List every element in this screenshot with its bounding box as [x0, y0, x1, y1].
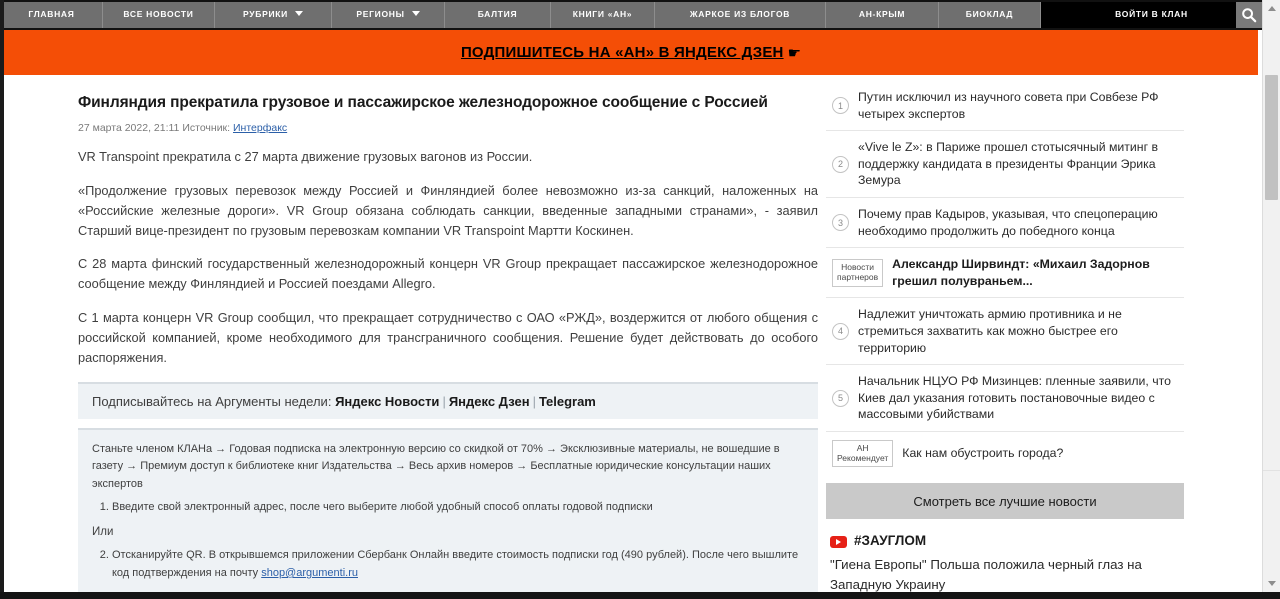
- article-paragraph: С 1 марта концерн VR Group сообщил, что …: [78, 308, 818, 367]
- nav-item-baltiya[interactable]: БАЛТИЯ: [445, 2, 551, 28]
- list-item[interactable]: 3 Почему прав Кадыров, указывая, что спе…: [826, 198, 1184, 248]
- recommend-badge-line1: АН: [857, 443, 869, 453]
- separator: |: [439, 394, 448, 409]
- article-paragraph: «Продолжение грузовых перевозок между Ро…: [78, 181, 818, 240]
- nav-item-rubriki[interactable]: РУБРИКИ: [215, 2, 332, 28]
- rank-badge: 3: [832, 214, 849, 231]
- article-paragraph: VR Transpoint прекратила с 27 марта движ…: [78, 147, 818, 167]
- nav-item-regiony[interactable]: РЕГИОНЫ: [332, 2, 445, 28]
- rank-badge: 4: [832, 323, 849, 340]
- rank-badge: 2: [832, 156, 849, 173]
- subscribe-prefix: Подписывайтесь на Аргументы недели:: [92, 394, 331, 409]
- source-link[interactable]: Интерфакс: [233, 122, 287, 134]
- list-item-partner[interactable]: Новости партнеров Александр Ширвиндт: «М…: [826, 248, 1184, 298]
- list-item[interactable]: 4 Надлежит уничтожать армию противника и…: [826, 298, 1184, 365]
- subscribe-link-yandex-zen[interactable]: Яндекс Дзен: [449, 394, 530, 409]
- subscribe-link-yandex-news[interactable]: Яндекс Новости: [335, 394, 439, 409]
- sidebar: 1 Путин исключил из научного совета при …: [826, 75, 1184, 592]
- clan-or-label: Или: [92, 523, 804, 541]
- page-root: ГЛАВНАЯ ВСЕ НОВОСТИ РУБРИКИ РЕГИОНЫ БАЛТ…: [0, 0, 1280, 599]
- sidebar-item-label: Путин исключил из научного совета при Со…: [858, 89, 1180, 122]
- clan-intro: Станьте членом КЛАНа → Годовая подписка …: [92, 441, 804, 494]
- nav-item-label: ЖАРКОЕ ИЗ БЛОГОВ: [690, 9, 790, 19]
- list-item[interactable]: 2 «Vive le Z»: в Париже прошел стотысячн…: [826, 131, 1184, 198]
- scrollbar-thumb[interactable]: [1265, 75, 1278, 200]
- nav-item-label: ГЛАВНАЯ: [28, 9, 74, 19]
- sidebar-item-label: Александр Ширвиндт: «Михаил Задорнов гре…: [892, 256, 1180, 289]
- chevron-down-icon: [412, 11, 420, 16]
- nav-item-knigi-an[interactable]: КНИГИ «АН»: [551, 2, 655, 28]
- nav-item-label: БИОКЛАД: [966, 9, 1013, 19]
- rank-badge: 1: [832, 97, 849, 114]
- article-meta: 27 марта 2022, 21:11 Источник: Интерфакс: [78, 122, 818, 134]
- list-item: Введите свой электронный адрес, после че…: [112, 499, 804, 517]
- nav-items-container: ГЛАВНАЯ ВСЕ НОВОСТИ РУБРИКИ РЕГИОНЫ БАЛТ…: [0, 2, 1262, 28]
- zen-subscribe-banner[interactable]: ПОДПИШИТЕСЬ НА «АН» В ЯНДЕКС ДЗЕН ☛: [4, 30, 1258, 75]
- article-column: Финляндия прекратила грузовое и пассажир…: [78, 93, 818, 592]
- youtube-hashtag: #ЗАУГЛОМ: [854, 533, 926, 548]
- clan-steps-list: Введите свой электронный адрес, после че…: [92, 499, 804, 517]
- search-icon: [1241, 7, 1257, 23]
- scrollbar-up-button[interactable]: [1263, 0, 1280, 17]
- nav-item-vse-novosti[interactable]: ВСЕ НОВОСТИ: [103, 2, 215, 28]
- chevron-down-icon: [1268, 581, 1276, 586]
- subscribe-strip: Подписывайтесь на Аргументы недели: Янде…: [78, 382, 818, 419]
- nav-item-label: БАЛТИЯ: [478, 9, 518, 19]
- article-date: 27 марта 2022, 21:11: [78, 122, 179, 134]
- sidebar-item-label: «Vive le Z»: в Париже прошел стотысячный…: [858, 139, 1180, 189]
- see-all-best-news-button[interactable]: Смотреть все лучшие новости: [826, 483, 1184, 519]
- nav-item-zharkoe-iz-blogov[interactable]: ЖАРКОЕ ИЗ БЛОГОВ: [655, 2, 826, 28]
- window-bottom-edge: [0, 592, 1280, 599]
- list-item: Отсканируйте QR. В открывшемся приложени…: [112, 547, 804, 582]
- rank-badge: 5: [832, 390, 849, 407]
- clan-step2-text: Отсканируйте QR. В открывшемся приложени…: [112, 549, 798, 579]
- pointing-hand-icon: ☛: [788, 44, 801, 62]
- divider: [1263, 470, 1280, 471]
- list-item-recommended[interactable]: АН Рекомендует Как нам обустроить города…: [826, 432, 1184, 476]
- nav-item-label: АН-КРЫМ: [859, 9, 905, 19]
- vertical-scrollbar[interactable]: [1262, 0, 1280, 599]
- youtube-promo-row: #ЗАУГЛОМ "Гиена Европы" Польша положила …: [830, 533, 1180, 592]
- clan-steps-list-2: Отсканируйте QR. В открывшемся приложени…: [92, 547, 804, 582]
- chevron-down-icon: [295, 11, 303, 16]
- youtube-promo-title: "Гиена Европы" Польша положила черный гл…: [830, 555, 1180, 592]
- partner-badge-line1: Новости: [841, 262, 874, 272]
- sidebar-item-label: Как нам обустроить города?: [902, 445, 1063, 462]
- nav-item-an-krym[interactable]: АН-КРЫМ: [826, 2, 939, 28]
- youtube-icon: [830, 536, 847, 548]
- sidebar-item-label: Почему прав Кадыров, указывая, что спецо…: [858, 206, 1180, 239]
- top-navigation-bar: ГЛАВНАЯ ВСЕ НОВОСТИ РУБРИКИ РЕГИОНЫ БАЛТ…: [0, 0, 1280, 30]
- article-paragraph: С 28 марта финский государственный желез…: [78, 254, 818, 294]
- sidebar-item-label: Начальник НЦУО РФ Мизинцев: пленные заяв…: [858, 373, 1180, 423]
- list-item[interactable]: 1 Путин исключил из научного совета при …: [826, 81, 1184, 131]
- recommend-badge: АН Рекомендует: [832, 440, 893, 468]
- nav-item-bioklad[interactable]: БИОКЛАД: [939, 2, 1041, 28]
- page-title: Финляндия прекратила грузовое и пассажир…: [78, 93, 818, 113]
- partner-badge-line2: партнеров: [837, 272, 878, 282]
- source-label: Источник:: [182, 122, 230, 134]
- search-button[interactable]: [1236, 2, 1262, 28]
- see-all-button-label: Смотреть все лучшие новости: [913, 494, 1096, 509]
- separator: |: [530, 394, 539, 409]
- clan-promo-box: Станьте членом КЛАНа → Годовая подписка …: [78, 428, 818, 592]
- sidebar-item-label: Надлежит уничтожать армию противника и н…: [858, 306, 1180, 356]
- nav-item-label: ВСЕ НОВОСТИ: [123, 9, 193, 19]
- chevron-up-icon: [1268, 6, 1276, 11]
- nav-item-label: КНИГИ «АН»: [573, 9, 632, 19]
- page-body: Финляндия прекратила грузовое и пассажир…: [4, 75, 1262, 592]
- nav-item-label: РЕГИОНЫ: [356, 9, 404, 19]
- youtube-promo-block[interactable]: #ЗАУГЛОМ "Гиена Европы" Польша положила …: [826, 519, 1184, 592]
- recommend-badge-line2: Рекомендует: [837, 453, 888, 463]
- scrollbar-down-button[interactable]: [1263, 575, 1280, 592]
- nav-item-glavnaya[interactable]: ГЛАВНАЯ: [0, 2, 103, 28]
- list-item[interactable]: 5 Начальник НЦУО РФ Мизинцев: пленные за…: [826, 365, 1184, 432]
- nav-item-join-clan[interactable]: ВОЙТИ В КЛАН: [1041, 2, 1262, 28]
- window-left-edge: [0, 0, 4, 599]
- partner-badge: Новости партнеров: [832, 259, 883, 287]
- nav-item-label: РУБРИКИ: [243, 9, 288, 19]
- subscribe-link-telegram[interactable]: Telegram: [539, 394, 596, 409]
- nav-item-label: ВОЙТИ В КЛАН: [1115, 9, 1188, 19]
- banner-text: ПОДПИШИТЕСЬ НА «АН» В ЯНДЕКС ДЗЕН: [461, 44, 784, 61]
- clan-email-link[interactable]: shop@argumenti.ru: [261, 567, 358, 579]
